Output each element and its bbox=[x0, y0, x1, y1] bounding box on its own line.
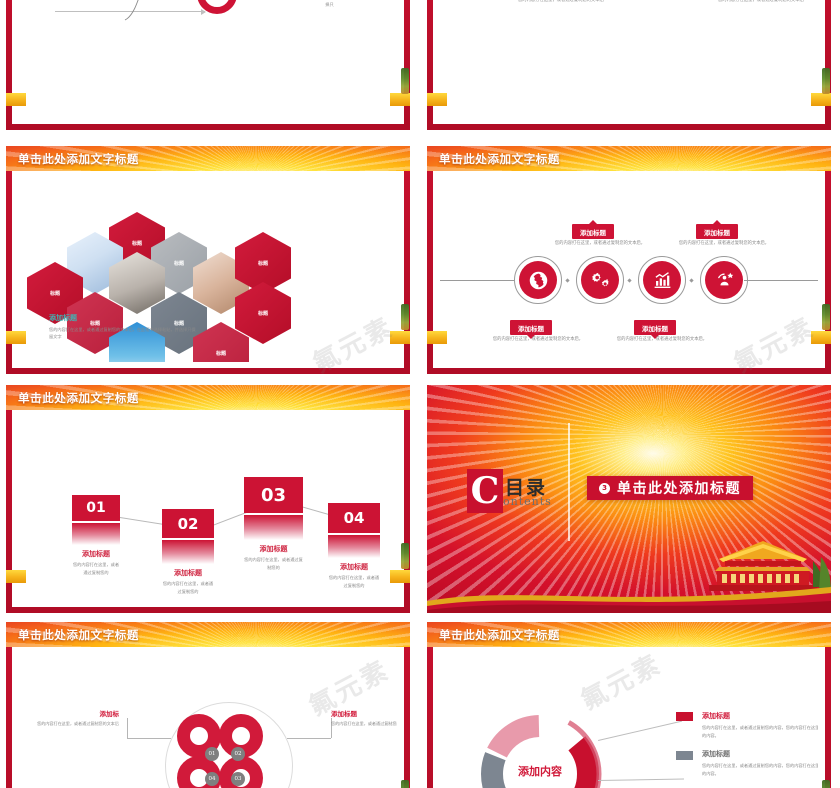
timeline-separator bbox=[565, 278, 569, 282]
slide-1-bar-ab[interactable]: 2017 82% 2016 73% 2015 58% bbox=[6, 0, 410, 130]
foliage-icon bbox=[401, 780, 409, 788]
step-item-04[interactable]: 04 添加标题 您的内容打在这里，或者通过复制您的 bbox=[328, 503, 380, 589]
gold-tab-right bbox=[811, 93, 831, 106]
target-person-icon bbox=[705, 261, 743, 299]
foliage-icon bbox=[401, 68, 409, 94]
slide-1-canvas: 2017 82% 2016 73% 2015 58% bbox=[19, 0, 397, 118]
caption-title: 添加标 bbox=[27, 708, 119, 718]
node-body-4: 您的内容打在这里，或者通过复制您的文本后， bbox=[669, 240, 779, 248]
chart-icon bbox=[643, 261, 681, 299]
section-headline: 单击此处添加标题 bbox=[617, 478, 741, 498]
foliage-icon bbox=[822, 780, 830, 788]
slide-deck-sheet: 2017 82% 2016 73% 2015 58% bbox=[0, 0, 840, 788]
step-shadow bbox=[244, 515, 303, 540]
node-title-2[interactable]: 添加标题 bbox=[572, 224, 614, 239]
gold-tab-left bbox=[6, 93, 26, 106]
node-title-3[interactable]: 添加标题 bbox=[634, 320, 676, 335]
hex-caption: 添加标题 您的内容打在这里，或者通过复制您的文本后，在此框中选择粘贴，并选择只保… bbox=[49, 313, 199, 340]
page-title: 单击此处添加文字标题 bbox=[439, 627, 560, 643]
leader-line bbox=[127, 718, 128, 738]
timeline-node-1[interactable] bbox=[514, 256, 562, 304]
node-body-1: 您的内容打在这里，或者通过复制您的文本后， bbox=[483, 336, 593, 344]
year-body-previous: 您的内容打在这里，或者通过复制您的文本后 bbox=[718, 0, 818, 4]
legend-title-2[interactable]: 添加标题 bbox=[702, 749, 730, 759]
caption-body: 您的内容打在这里，或者通过复制您的文本后，在此框中选择粘贴，并选择只保留文字 bbox=[49, 326, 199, 340]
foliage-icon bbox=[401, 543, 409, 569]
ab-body-b: 您的内容打在这里，或者通过复制您的文本在此框中选择粘贴并选择只 bbox=[267, 0, 392, 9]
timeline-separator bbox=[627, 278, 631, 282]
gold-tab-right bbox=[811, 331, 831, 344]
page-title: 单击此处添加文字标题 bbox=[18, 390, 139, 406]
section-index: 3 bbox=[599, 483, 610, 494]
step-body: 您的内容打在这里，或者通过复制您的 bbox=[72, 561, 120, 576]
timeline-separator bbox=[689, 278, 693, 282]
step-title: 添加标题 bbox=[328, 562, 380, 572]
slide-3-canvas: 标题 标题 标题 标题 标题 标题 标题 标题 添加标题 您的内容打在这里，或者… bbox=[19, 174, 397, 362]
step-shadow bbox=[72, 523, 120, 545]
horizontal-bar-chart: 2017 82% 2016 73% 2015 58% bbox=[25, 0, 221, 24]
timeline-connector bbox=[744, 280, 818, 281]
petal-number-04: 04 bbox=[205, 772, 219, 786]
step-number: 04 bbox=[328, 503, 380, 533]
foliage-icon bbox=[822, 68, 830, 94]
caption-title: 添加标题 bbox=[331, 708, 397, 718]
slide-header-band: 单击此处添加文字标题 bbox=[427, 146, 831, 171]
step-body: 您的内容打在这里，或者通过复制您的 bbox=[328, 574, 380, 589]
legend-swatch-1 bbox=[676, 712, 693, 721]
page-title: 单击此处添加文字标题 bbox=[439, 151, 560, 167]
petal-number-01: 01 bbox=[205, 747, 219, 761]
slide-4-canvas: 添加标题 您的内容打在这里，或者通过复制您的文本后， 添加标题 您的内容打在这里… bbox=[440, 174, 818, 362]
legend-body-1: 您的内容打在这里，或者通过复制您的内容，您的内容打在这里，或者通过复制您的内容。 bbox=[702, 724, 818, 739]
gold-tab-left bbox=[427, 93, 447, 106]
caption-body: 您的内容打在这里，或者通过复制您的文本后 bbox=[27, 720, 119, 727]
timeline-node-4[interactable] bbox=[700, 256, 748, 304]
slide-header-band: 单击此处添加文字标题 bbox=[6, 385, 410, 410]
foliage-icon bbox=[822, 304, 830, 330]
leader-line bbox=[287, 738, 331, 739]
gold-tab-right bbox=[390, 93, 410, 106]
step-number: 01 bbox=[72, 495, 120, 521]
section-headline-bar[interactable]: 3 单击此处添加标题 bbox=[587, 476, 753, 500]
ribbon-decoration bbox=[427, 583, 831, 613]
step-item-02[interactable]: 02 添加标题 您的内容打在这里，或者通过复制您的 bbox=[162, 509, 214, 595]
caption-body: 您的内容打在这里，或者通过复制您的文本后 bbox=[331, 720, 397, 727]
node-body-3: 您的内容打在这里，或者通过复制您的文本后， bbox=[607, 336, 717, 344]
step-shadow bbox=[162, 540, 214, 564]
donut-center-label: 添加内容 bbox=[500, 750, 580, 788]
step-shadow bbox=[328, 535, 380, 558]
slide-7-canvas: 01 02 03 04 添加标 您的内容打在这里，或者通过复制您的文本后 添加标… bbox=[19, 650, 397, 788]
slide-6-contents-divider[interactable]: C 目录 ontents 3 单击此处添加标题 bbox=[427, 385, 831, 613]
legend-title-1[interactable]: 添加标题 bbox=[702, 711, 730, 721]
node-title-4[interactable]: 添加标题 bbox=[696, 224, 738, 239]
legend-swatch-2 bbox=[676, 751, 693, 760]
step-number: 02 bbox=[162, 509, 214, 538]
slide-4-icon-timeline[interactable]: 单击此处添加文字标题 氟元素 bbox=[427, 146, 831, 374]
slide-2-canvas: 900 800 700 600 500 400 300 200 100 66% … bbox=[440, 0, 818, 118]
year-body-current: 您的内容打在这里，或者通过复制您的文本后 bbox=[518, 0, 628, 4]
step-title: 添加标题 bbox=[72, 549, 120, 559]
legend-leader bbox=[598, 721, 682, 741]
step-title: 添加标题 bbox=[244, 544, 303, 554]
flower-caption-02: 添加标题 您的内容打在这里，或者通过复制您的文本后 bbox=[331, 708, 397, 727]
timeline-node-3[interactable] bbox=[638, 256, 686, 304]
gears-icon bbox=[581, 261, 619, 299]
gold-tab-right bbox=[390, 570, 410, 583]
petal-number-03: 03 bbox=[231, 772, 245, 786]
slide-7-flower-diagram[interactable]: 单击此处添加文字标题 氟元素 01 02 03 04 添加 bbox=[6, 622, 410, 788]
slide-8-donut-chart[interactable]: 单击此处添加文字标题 氟元素 添加内容 添加标题 bbox=[427, 622, 831, 788]
caption-title: 添加标题 bbox=[49, 313, 199, 323]
step-number: 03 bbox=[244, 477, 303, 513]
slide-3-hexagon-grid[interactable]: 单击此处添加文字标题 氟元素 标题 标题 标题 标题 标题 标题 标题 标题 添… bbox=[6, 146, 410, 374]
tiananmen-gate-illustration bbox=[695, 531, 831, 591]
leader-line bbox=[127, 738, 171, 739]
gold-tab-right bbox=[390, 331, 410, 344]
ab-callout-group: A 添加标题 您的内容打在这里，或者通过复制您的文本在此框中选择粘贴并选择只 B… bbox=[195, 0, 391, 28]
blob-shape bbox=[197, 0, 237, 14]
slide-8-canvas: 添加内容 添加标题 您的内容打在这里，或者通过复制您的内容，您的内容打在这里，或… bbox=[440, 650, 818, 788]
page-title: 单击此处添加文字标题 bbox=[18, 151, 139, 167]
slide-header-band: 单击此处添加文字标题 bbox=[6, 146, 410, 171]
contents-letter-c: C bbox=[467, 469, 503, 513]
step-item-03[interactable]: 03 添加标题 您的内容打在这里，或者通过复制您的 bbox=[244, 477, 303, 571]
step-title: 添加标题 bbox=[162, 568, 214, 578]
contents-en: ontents bbox=[503, 495, 552, 508]
timeline-connector bbox=[440, 280, 514, 281]
petal-number-02: 02 bbox=[231, 747, 245, 761]
step-item-01[interactable]: 01 添加标题 您的内容打在这里，或者通过复制您的 bbox=[72, 495, 120, 576]
legend-leader bbox=[598, 778, 684, 781]
vertical-rule bbox=[568, 423, 570, 541]
step-body: 您的内容打在这里，或者通过复制您的 bbox=[162, 580, 214, 595]
gold-tab-left bbox=[6, 570, 26, 583]
slide-header-band: 单击此处添加文字标题 bbox=[427, 622, 831, 647]
flower-caption-01: 添加标 您的内容打在这里，或者通过复制您的文本后 bbox=[27, 708, 119, 727]
node-body-2: 您的内容打在这里，或者通过复制您的文本后， bbox=[545, 240, 655, 248]
gold-tab-left bbox=[427, 331, 447, 344]
timeline-node-2[interactable] bbox=[576, 256, 624, 304]
step-body: 您的内容打在这里，或者通过复制您的 bbox=[244, 556, 303, 571]
slide-5-numbered-steps[interactable]: 单击此处添加文字标题 01 添加标题 您的内容打在这里，或者通过复制您的 02 … bbox=[6, 385, 410, 613]
slide-header-band: 单击此处添加文字标题 bbox=[6, 622, 410, 647]
slide-5-canvas: 01 添加标题 您的内容打在这里，或者通过复制您的 02 添加标题 您的内容打在… bbox=[19, 413, 397, 601]
slide-2-vs-comparison[interactable]: 900 800 700 600 500 400 300 200 100 66% … bbox=[427, 0, 831, 130]
globe-icon bbox=[519, 261, 557, 299]
node-title-1[interactable]: 添加标题 bbox=[510, 320, 552, 335]
foliage-icon bbox=[401, 304, 409, 330]
gold-tab-left bbox=[6, 331, 26, 344]
legend-body-2: 您的内容打在这里，或者通过复制您的内容，您的内容打在这里，或者通过复制您的内容。 bbox=[702, 762, 818, 777]
page-title: 单击此处添加文字标题 bbox=[18, 627, 139, 643]
